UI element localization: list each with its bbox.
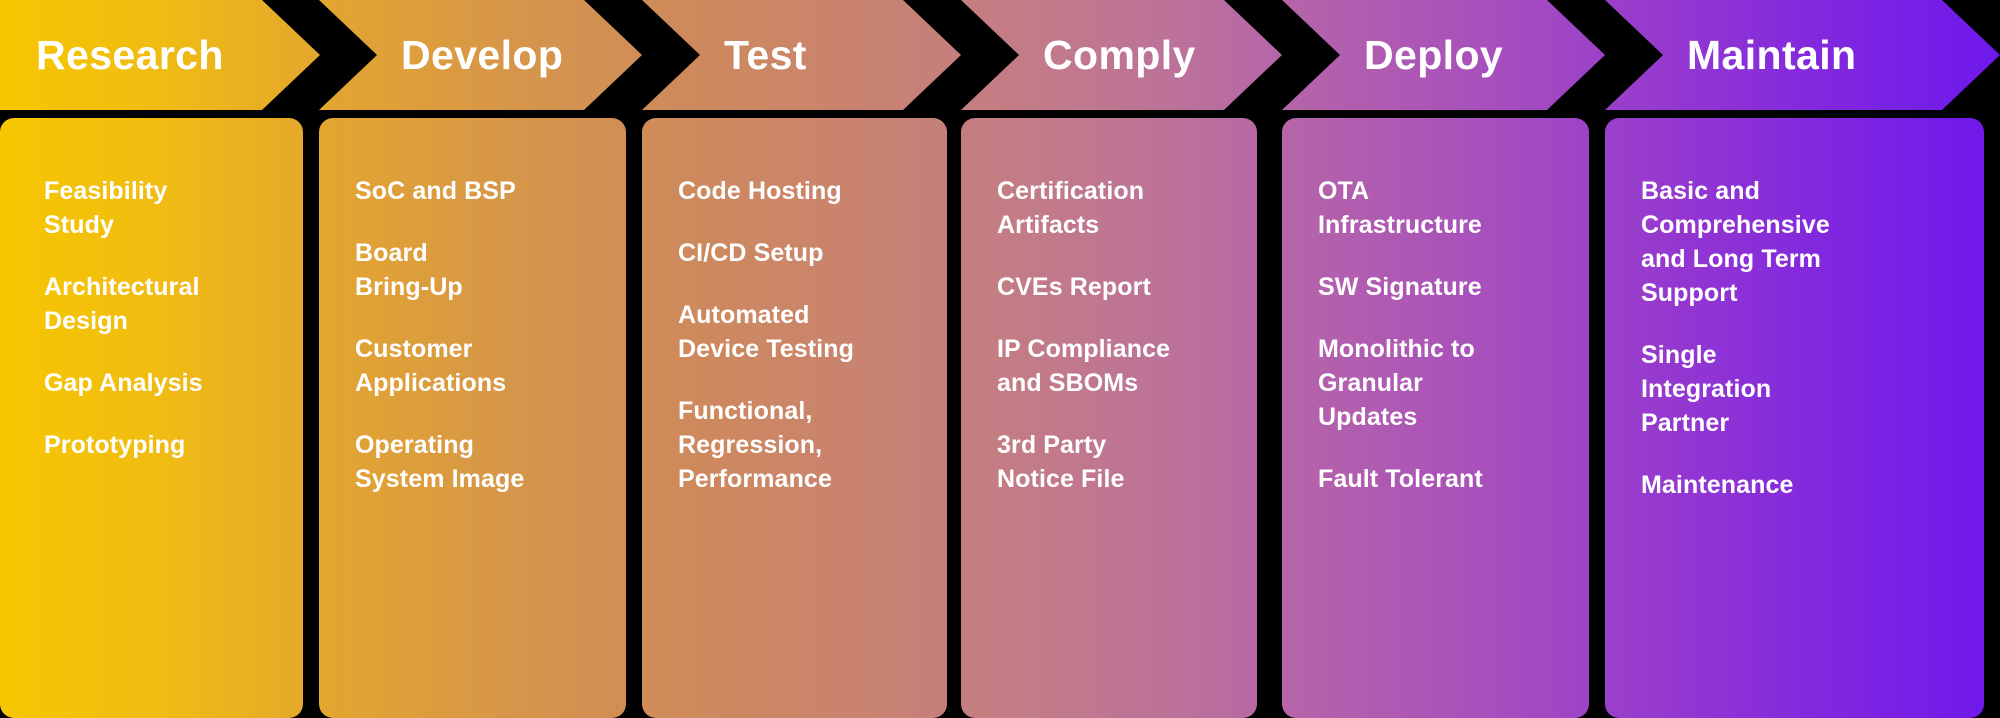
stage-card-test[interactable]: Code HostingCI/CD SetupAutomated Device … bbox=[642, 118, 947, 718]
stage-body-row: Feasibility StudyArchitectural DesignGap… bbox=[0, 118, 2000, 718]
list-item[interactable]: 3rd Party Notice File bbox=[997, 428, 1243, 496]
stage-item-list-comply: Certification ArtifactsCVEs ReportIP Com… bbox=[961, 118, 1257, 496]
list-item[interactable]: Functional, Regression, Performance bbox=[678, 394, 933, 496]
stage-card-deploy[interactable]: OTA InfrastructureSW SignatureMonolithic… bbox=[1282, 118, 1589, 718]
stage-title-develop: Develop bbox=[401, 32, 563, 79]
stage-card-research[interactable]: Feasibility StudyArchitectural DesignGap… bbox=[0, 118, 303, 718]
stage-item-list-deploy: OTA InfrastructureSW SignatureMonolithic… bbox=[1282, 118, 1589, 496]
list-item[interactable]: Maintenance bbox=[1641, 468, 1970, 502]
list-item[interactable]: Code Hosting bbox=[678, 174, 933, 208]
stage-title-deploy: Deploy bbox=[1364, 32, 1503, 79]
stage-title-maintain: Maintain bbox=[1687, 32, 1856, 79]
stage-item-list-develop: SoC and BSPBoard Bring-UpCustomer Applic… bbox=[319, 118, 626, 496]
stage-card-maintain[interactable]: Basic and Comprehensive and Long Term Su… bbox=[1605, 118, 1984, 718]
stage-item-list-maintain: Basic and Comprehensive and Long Term Su… bbox=[1605, 118, 1984, 502]
stage-title-research: Research bbox=[36, 32, 224, 79]
list-item[interactable]: Prototyping bbox=[44, 428, 289, 462]
list-item[interactable]: Basic and Comprehensive and Long Term Su… bbox=[1641, 174, 1970, 310]
pipeline-diagram: ResearchDevelopTestComplyDeployMaintain … bbox=[0, 0, 2000, 718]
stage-header-research[interactable]: Research bbox=[0, 0, 320, 110]
stage-header-comply[interactable]: Comply bbox=[961, 0, 1282, 110]
stage-header-develop[interactable]: Develop bbox=[319, 0, 642, 110]
list-item[interactable]: SW Signature bbox=[1318, 270, 1575, 304]
list-item[interactable]: SoC and BSP bbox=[355, 174, 612, 208]
list-item[interactable]: Monolithic to Granular Updates bbox=[1318, 332, 1575, 434]
stage-item-list-research: Feasibility StudyArchitectural DesignGap… bbox=[0, 118, 303, 462]
stage-header-row: ResearchDevelopTestComplyDeployMaintain bbox=[0, 0, 2000, 110]
stage-title-comply: Comply bbox=[1043, 32, 1196, 79]
list-item[interactable]: Customer Applications bbox=[355, 332, 612, 400]
stage-title-test: Test bbox=[724, 32, 807, 79]
list-item[interactable]: Certification Artifacts bbox=[997, 174, 1243, 242]
list-item[interactable]: Feasibility Study bbox=[44, 174, 289, 242]
list-item[interactable]: Operating System Image bbox=[355, 428, 612, 496]
list-item[interactable]: OTA Infrastructure bbox=[1318, 174, 1575, 242]
list-item[interactable]: IP Compliance and SBOMs bbox=[997, 332, 1243, 400]
list-item[interactable]: Board Bring-Up bbox=[355, 236, 612, 304]
stage-header-maintain[interactable]: Maintain bbox=[1605, 0, 2000, 110]
list-item[interactable]: Gap Analysis bbox=[44, 366, 289, 400]
list-item[interactable]: Single Integration Partner bbox=[1641, 338, 1970, 440]
stage-header-deploy[interactable]: Deploy bbox=[1282, 0, 1605, 110]
stage-header-test[interactable]: Test bbox=[642, 0, 961, 110]
list-item[interactable]: Fault Tolerant bbox=[1318, 462, 1575, 496]
stage-card-develop[interactable]: SoC and BSPBoard Bring-UpCustomer Applic… bbox=[319, 118, 626, 718]
list-item[interactable]: Automated Device Testing bbox=[678, 298, 933, 366]
list-item[interactable]: CI/CD Setup bbox=[678, 236, 933, 270]
stage-item-list-test: Code HostingCI/CD SetupAutomated Device … bbox=[642, 118, 947, 496]
list-item[interactable]: CVEs Report bbox=[997, 270, 1243, 304]
list-item[interactable]: Architectural Design bbox=[44, 270, 289, 338]
stage-card-comply[interactable]: Certification ArtifactsCVEs ReportIP Com… bbox=[961, 118, 1257, 718]
